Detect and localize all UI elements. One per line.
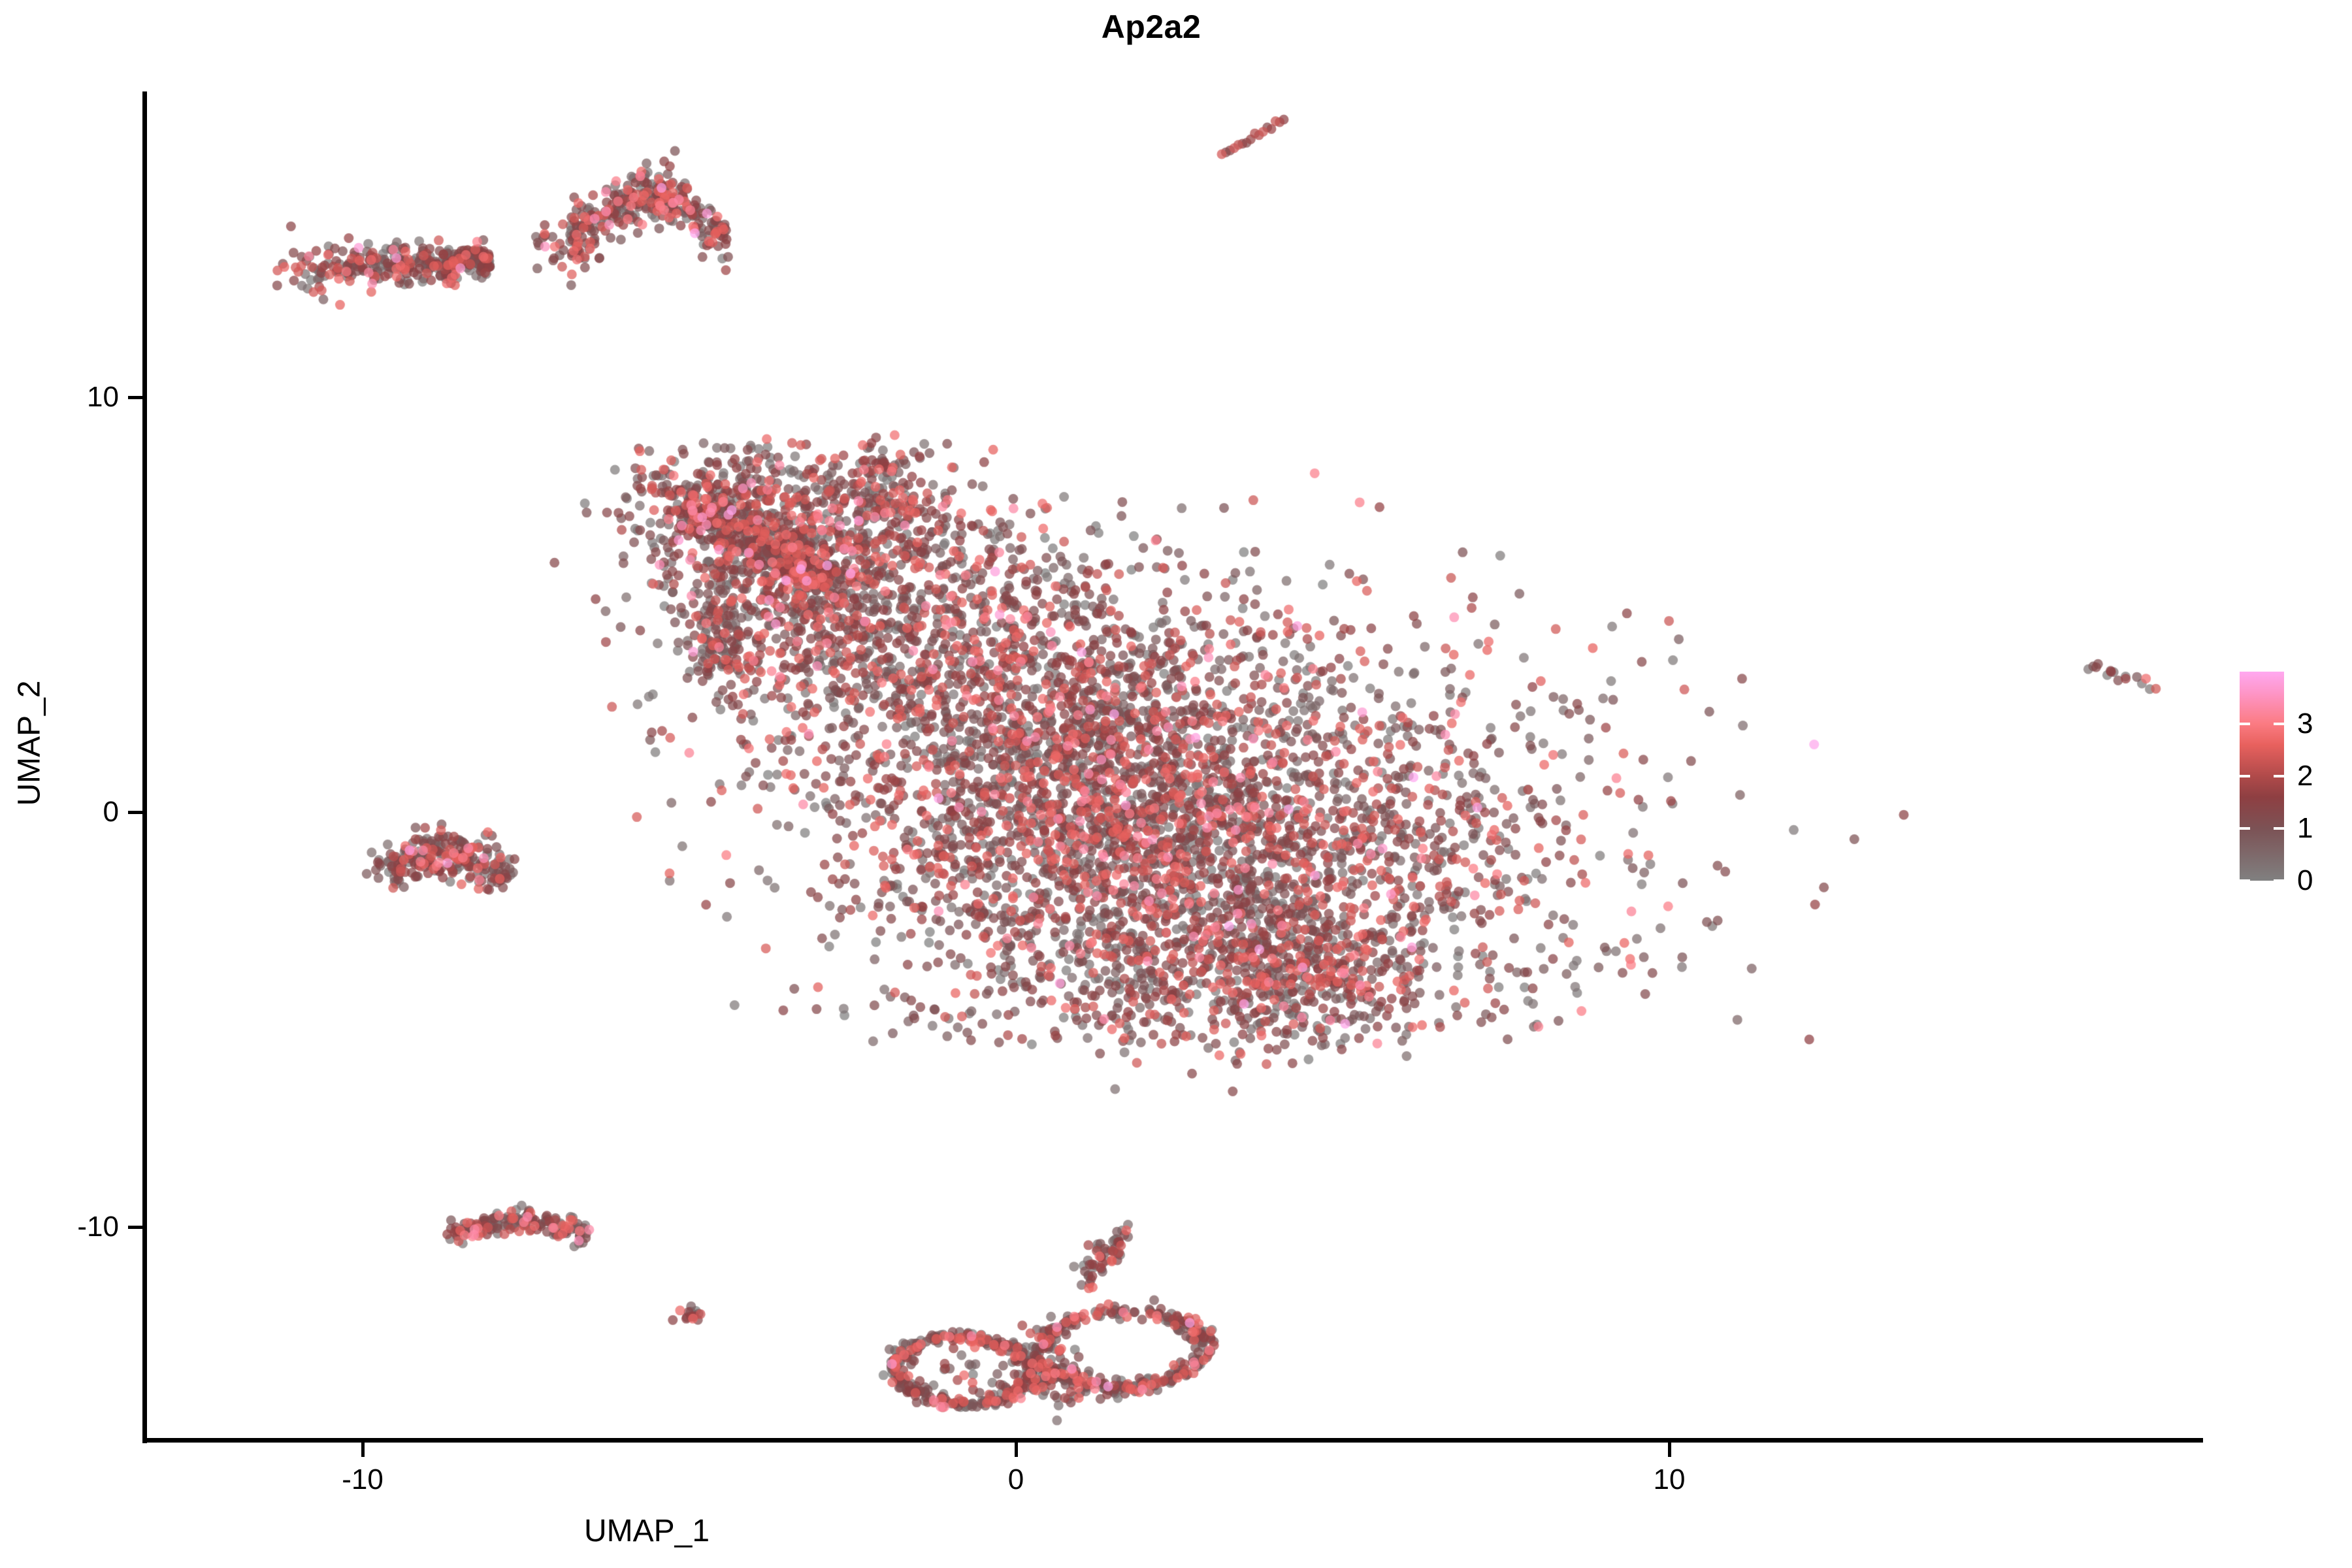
y-tick-label: -10 (77, 1211, 119, 1243)
y-axis-title: UMAP_2 (12, 515, 48, 972)
page-title: Ap2a2 (0, 8, 2327, 46)
plot-panel (145, 91, 2203, 1441)
x-axis-line (142, 1438, 2203, 1443)
y-tick-label: 0 (103, 796, 119, 828)
x-axis-title: UMAP_1 (0, 1513, 1823, 1549)
colorbar-tick-mark (2240, 827, 2250, 830)
y-tick-mark (128, 811, 142, 814)
colorbar-tick-mark (2274, 775, 2284, 777)
x-tick-mark (1015, 1443, 1018, 1457)
x-tick-mark (361, 1443, 365, 1457)
scatter-plot-root: Ap2a2 100-10 -10010 UMAP_1 UMAP_2 3210 (0, 0, 2352, 1568)
y-axis-line (142, 91, 147, 1443)
y-tick-mark (128, 396, 142, 399)
colorbar-tick-mark (2274, 723, 2284, 725)
x-tick-mark (1668, 1443, 1671, 1457)
colorbar-tick-label: 0 (2297, 864, 2313, 897)
colorbar-tick-mark (2274, 827, 2284, 830)
colorbar-tick-label: 3 (2297, 708, 2313, 740)
x-tick-label: 10 (1654, 1463, 1686, 1496)
y-tick-label: 10 (87, 381, 119, 414)
colorbar-tick-mark (2274, 879, 2284, 882)
scatter-point-layer (145, 91, 2203, 1441)
x-tick-label: 0 (1008, 1463, 1024, 1496)
colorbar-tick-label: 2 (2297, 760, 2313, 792)
y-tick-mark (128, 1226, 142, 1229)
colorbar-tick-mark (2240, 775, 2250, 777)
colorbar-tick-label: 1 (2297, 812, 2313, 845)
colorbar-tick-mark (2240, 723, 2250, 725)
x-tick-label: -10 (342, 1463, 384, 1496)
colorbar-tick-mark (2240, 879, 2250, 882)
